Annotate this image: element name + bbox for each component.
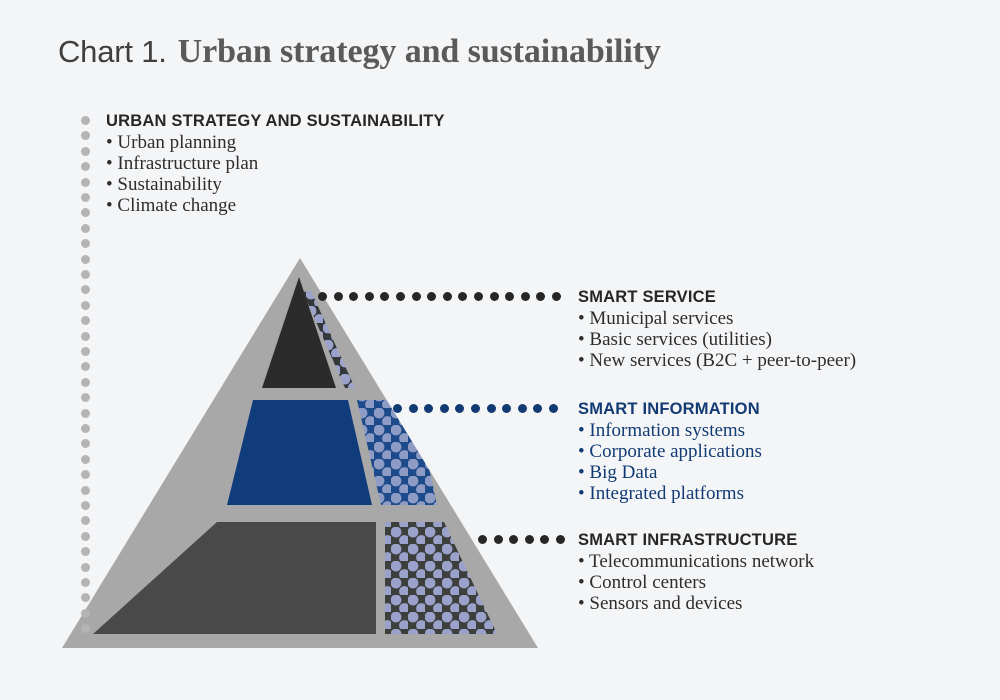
block-urban-strategy-item-0: • Urban planning — [106, 133, 445, 154]
block-smart-service-heading: SMART SERVICE — [578, 288, 856, 307]
block-smart-infrastructure-item-2: • Sensors and devices — [578, 594, 814, 615]
block-urban-strategy-item-3: • Climate change — [106, 196, 445, 217]
block-smart-information-item-0: • Information systems — [578, 421, 762, 442]
block-urban-strategy-heading: URBAN STRATEGY AND SUSTAINABILITY — [106, 112, 445, 131]
block-smart-information-item-1: • Corporate applications — [578, 442, 762, 463]
block-smart-service-item-2: • New services (B2C + peer-to-peer) — [578, 351, 856, 372]
block-smart-information: SMART INFORMATION • Information systems … — [578, 400, 762, 505]
block-smart-infrastructure-heading: SMART INFRASTRUCTURE — [578, 531, 814, 550]
connector-smart-service — [318, 292, 566, 301]
block-smart-infrastructure-item-1: • Control centers — [578, 573, 814, 594]
block-urban-strategy-item-2: • Sustainability — [106, 175, 445, 196]
block-urban-strategy: URBAN STRATEGY AND SUSTAINABILITY • Urba… — [106, 112, 445, 217]
block-smart-information-heading: SMART INFORMATION — [578, 400, 762, 419]
connector-smart-infrastructure — [478, 535, 564, 544]
chart-canvas: Chart 1. Urban strategy and sustainabili… — [0, 0, 1000, 700]
vertical-connector-line — [81, 116, 90, 636]
block-smart-infrastructure-item-0: • Telecommunications network — [578, 552, 814, 573]
block-smart-service-item-1: • Basic services (utilities) — [578, 330, 856, 351]
block-smart-infrastructure: SMART INFRASTRUCTURE • Telecommunication… — [578, 531, 814, 615]
block-urban-strategy-item-1: • Infrastructure plan — [106, 154, 445, 175]
block-smart-service: SMART SERVICE • Municipal services • Bas… — [578, 288, 856, 372]
block-smart-information-item-2: • Big Data — [578, 463, 762, 484]
block-smart-information-item-3: • Integrated platforms — [578, 484, 762, 505]
block-smart-service-item-0: • Municipal services — [578, 309, 856, 330]
connector-smart-information — [393, 404, 564, 413]
